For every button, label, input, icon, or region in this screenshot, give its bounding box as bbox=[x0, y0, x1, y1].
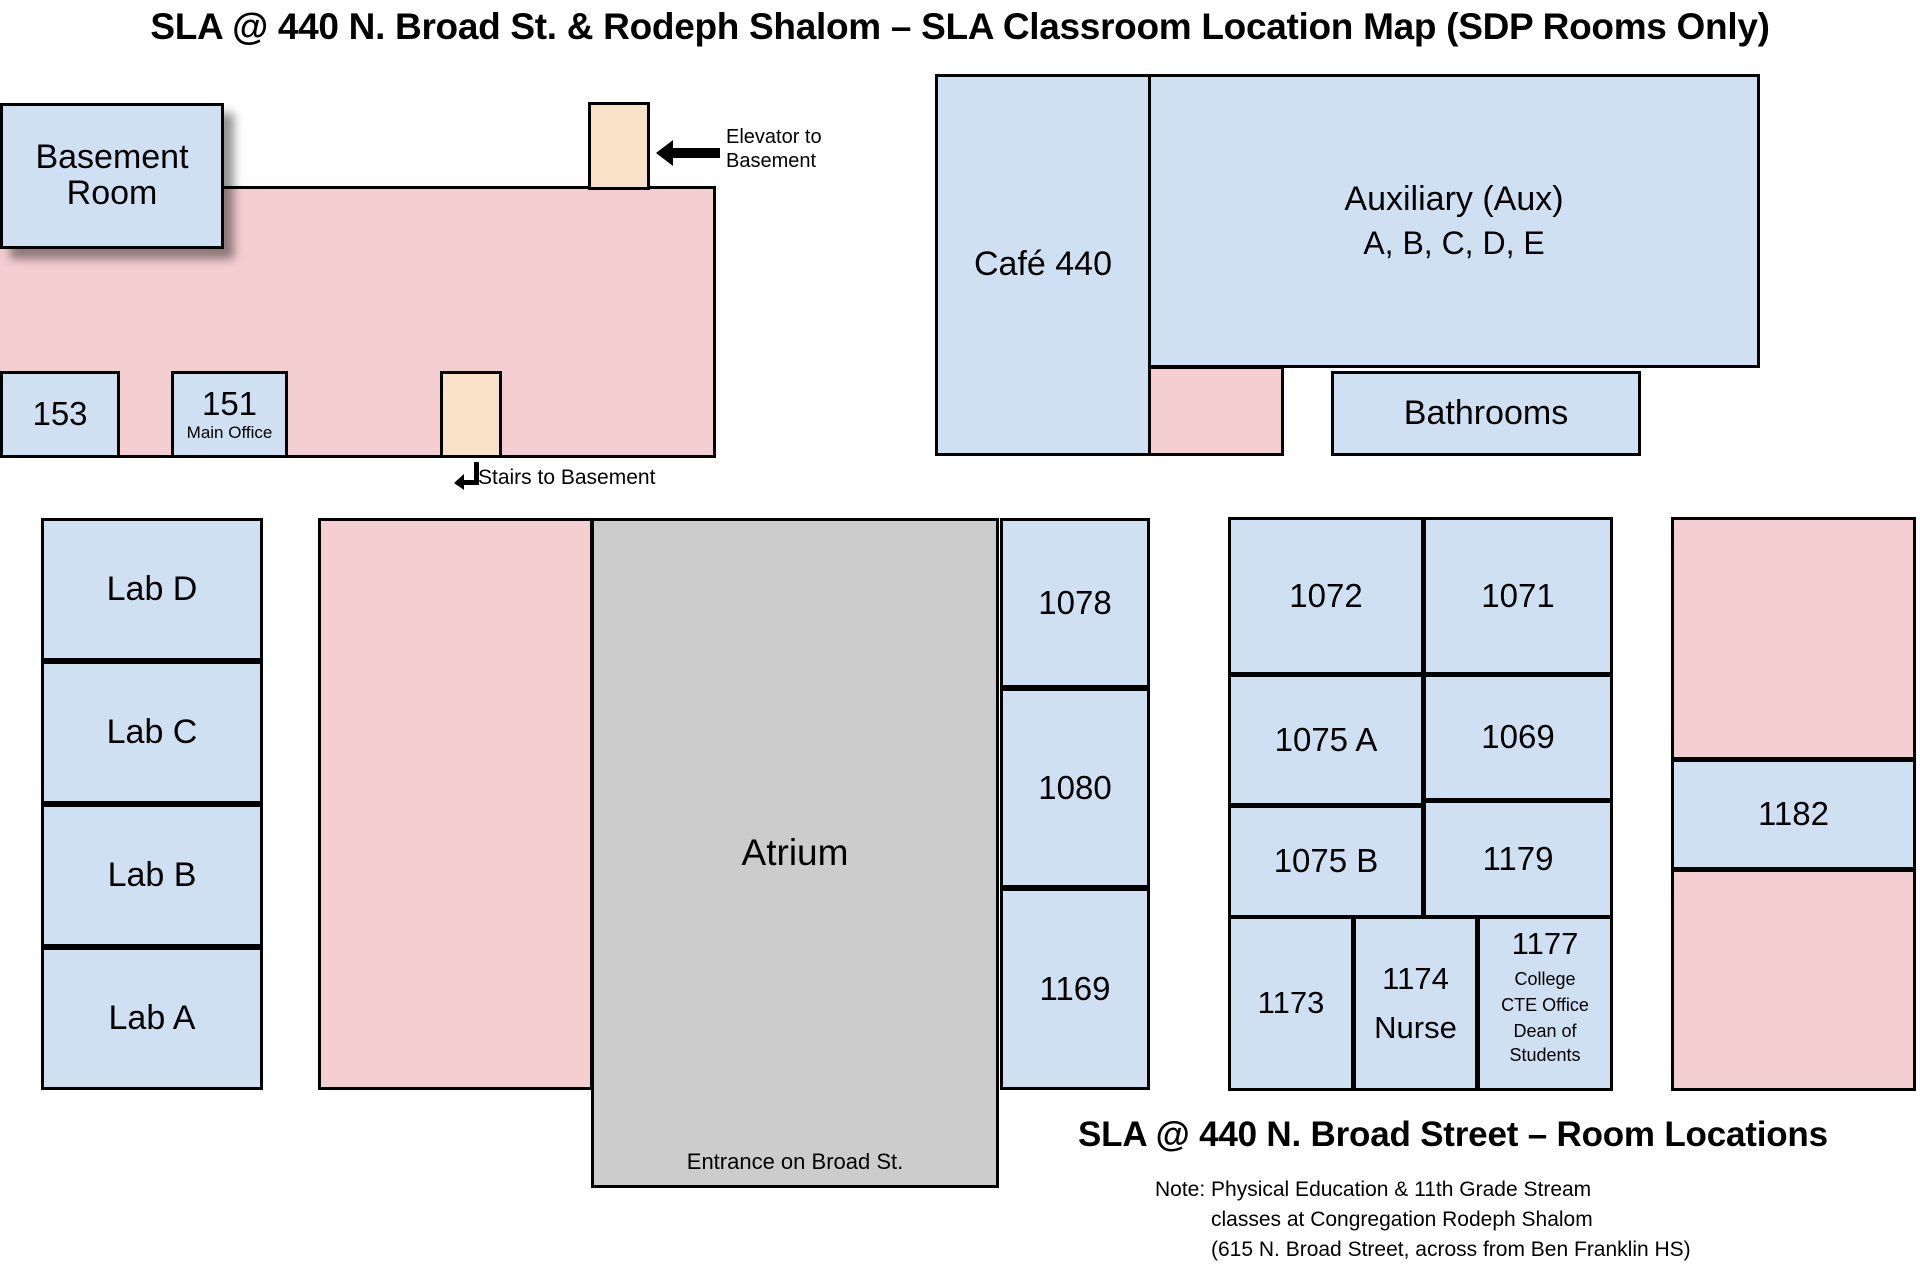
footer-note-line2: classes at Congregation Rodeph Shalom bbox=[1155, 1205, 1691, 1235]
room-1075b-label: 1075 B bbox=[1274, 844, 1379, 879]
stairs-shaft bbox=[440, 371, 502, 458]
room-153-label: 153 bbox=[32, 397, 87, 432]
room-lab-a-label: Lab A bbox=[109, 1001, 196, 1037]
room-auxiliary-letters: A, B, C, D, E bbox=[1363, 227, 1544, 261]
room-1173[interactable]: 1173 bbox=[1228, 916, 1354, 1091]
room-auxiliary[interactable]: Auxiliary (Aux) A, B, C, D, E bbox=[1148, 74, 1760, 368]
center-pink-area bbox=[318, 518, 593, 1090]
room-1182-label: 1182 bbox=[1758, 797, 1829, 832]
room-1169[interactable]: 1169 bbox=[1000, 888, 1150, 1090]
room-1177-line2: CTE Office bbox=[1501, 993, 1589, 1017]
room-lab-c[interactable]: Lab C bbox=[41, 661, 263, 804]
room-1071-label: 1071 bbox=[1481, 579, 1554, 614]
room-153[interactable]: 153 bbox=[0, 371, 120, 458]
room-1174[interactable]: 1174 Nurse bbox=[1353, 916, 1478, 1091]
room-basement-label: Basement Room bbox=[35, 140, 188, 211]
room-1078-label: 1078 bbox=[1038, 586, 1111, 621]
page-title: SLA @ 440 N. Broad St. & Rodeph Shalom –… bbox=[0, 6, 1920, 48]
room-1075b[interactable]: 1075 B bbox=[1228, 805, 1424, 918]
room-1071[interactable]: 1071 bbox=[1423, 517, 1613, 675]
atrium: Atrium Entrance on Broad St. bbox=[591, 518, 999, 1188]
room-1174-sublabel: Nurse bbox=[1374, 1012, 1457, 1045]
room-151-sublabel: Main Office bbox=[187, 424, 273, 442]
room-1069[interactable]: 1069 bbox=[1423, 674, 1613, 801]
room-1169-label: 1169 bbox=[1040, 972, 1111, 1007]
room-151[interactable]: 151 Main Office bbox=[171, 371, 288, 458]
elevator-annotation-line1: Elevator to bbox=[726, 125, 822, 149]
room-1080-label: 1080 bbox=[1038, 771, 1111, 806]
room-1072-label: 1072 bbox=[1289, 579, 1362, 614]
room-1072[interactable]: 1072 bbox=[1228, 517, 1424, 675]
room-1177[interactable]: 1177 College CTE Office Dean of Students bbox=[1477, 916, 1613, 1091]
room-basement[interactable]: Basement Room bbox=[0, 103, 224, 249]
far-right-pink-bottom bbox=[1671, 869, 1916, 1091]
room-1075a[interactable]: 1075 A bbox=[1228, 674, 1424, 806]
room-1179-label: 1179 bbox=[1483, 842, 1554, 877]
room-lab-b[interactable]: Lab B bbox=[41, 804, 263, 947]
elevator-arrow-icon bbox=[672, 148, 720, 158]
elevator-annotation: Elevator to Basement bbox=[726, 125, 822, 174]
room-lab-a[interactable]: Lab A bbox=[41, 947, 263, 1090]
room-lab-d-label: Lab D bbox=[107, 572, 198, 608]
room-1078[interactable]: 1078 bbox=[1000, 518, 1150, 688]
room-1182[interactable]: 1182 bbox=[1671, 759, 1916, 870]
room-1177-line4: Students bbox=[1509, 1043, 1580, 1067]
footer-note-line1: Note: Physical Education & 11th Grade St… bbox=[1155, 1175, 1691, 1205]
room-cafe-440-label: Café 440 bbox=[974, 247, 1112, 283]
room-1177-line1: College bbox=[1514, 967, 1575, 991]
room-auxiliary-title: Auxiliary (Aux) bbox=[1344, 182, 1563, 218]
stairs-annotation: Stairs to Basement bbox=[478, 465, 655, 491]
atrium-entrance-label: Entrance on Broad St. bbox=[594, 1150, 996, 1173]
room-cafe-440[interactable]: Café 440 bbox=[935, 74, 1151, 456]
room-151-number: 151 bbox=[202, 387, 257, 422]
room-1080[interactable]: 1080 bbox=[1000, 688, 1150, 888]
room-bathrooms[interactable]: Bathrooms bbox=[1331, 371, 1641, 456]
room-1075a-label: 1075 A bbox=[1275, 723, 1378, 758]
room-lab-d[interactable]: Lab D bbox=[41, 518, 263, 661]
elevator-shaft bbox=[588, 102, 650, 190]
atrium-label: Atrium bbox=[742, 834, 849, 873]
floor-plan-map: SLA @ 440 N. Broad St. & Rodeph Shalom –… bbox=[0, 0, 1920, 1266]
room-1179[interactable]: 1179 bbox=[1423, 800, 1613, 918]
room-bathrooms-label: Bathrooms bbox=[1404, 396, 1568, 432]
footer-caption: SLA @ 440 N. Broad Street – Room Locatio… bbox=[1078, 1115, 1828, 1155]
room-1177-line3: Dean of bbox=[1513, 1019, 1576, 1043]
corridor-notch bbox=[1148, 366, 1284, 456]
footer-note-line3: (615 N. Broad Street, across from Ben Fr… bbox=[1155, 1235, 1691, 1265]
room-1177-number: 1177 bbox=[1512, 928, 1579, 961]
room-1173-label: 1173 bbox=[1258, 987, 1325, 1020]
far-right-pink-top bbox=[1671, 517, 1916, 760]
elevator-annotation-line2: Basement bbox=[726, 149, 822, 173]
room-lab-c-label: Lab C bbox=[107, 715, 198, 751]
room-1174-number: 1174 bbox=[1382, 963, 1449, 996]
room-1069-label: 1069 bbox=[1481, 720, 1554, 755]
footer-note: Note: Physical Education & 11th Grade St… bbox=[1155, 1175, 1691, 1264]
room-lab-b-label: Lab B bbox=[108, 858, 197, 894]
